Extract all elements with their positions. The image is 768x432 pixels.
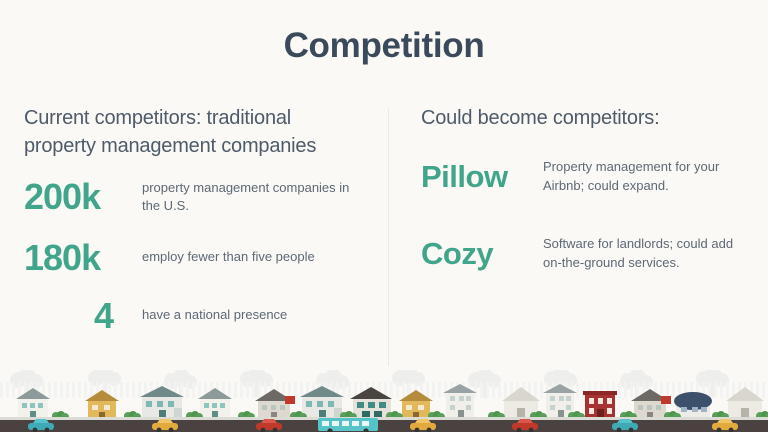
competitor-description: Property management for your Airbnb; cou… — [543, 158, 744, 195]
stat-value: 180k — [24, 240, 142, 276]
competitor-description: Software for landlords; could add on-the… — [543, 235, 744, 272]
stat-description: have a national presence — [142, 306, 362, 324]
right-column-heading: Could become competitors: — [421, 104, 744, 132]
stat-value: 4 — [94, 298, 142, 334]
slide: Competition Current competitors: traditi… — [0, 0, 768, 432]
street-scene-svg — [0, 370, 768, 432]
stat-row: 180k employ fewer than five people — [24, 240, 362, 276]
page-title: Competition — [0, 26, 768, 66]
stat-row: 4 have a national presence — [24, 298, 362, 334]
competitor-name: Pillow — [421, 161, 543, 192]
left-column: Current competitors: traditional propert… — [0, 104, 388, 370]
stat-value: 200k — [24, 179, 142, 215]
competitor-name: Cozy — [421, 238, 543, 269]
right-column: Could become competitors: Pillow Propert… — [388, 104, 768, 370]
stat-row: 200k property management companies in th… — [24, 179, 362, 216]
columns-container: Current competitors: traditional propert… — [0, 104, 768, 370]
stat-description: employ fewer than five people — [142, 248, 362, 266]
left-column-heading: Current competitors: traditional propert… — [24, 104, 362, 161]
competitor-row: Cozy Software for landlords; could add o… — [421, 235, 744, 272]
competitor-row: Pillow Property management for your Airb… — [421, 158, 744, 195]
neighborhood-street-illustration — [0, 370, 768, 432]
stat-description: property management companies in the U.S… — [142, 179, 362, 216]
